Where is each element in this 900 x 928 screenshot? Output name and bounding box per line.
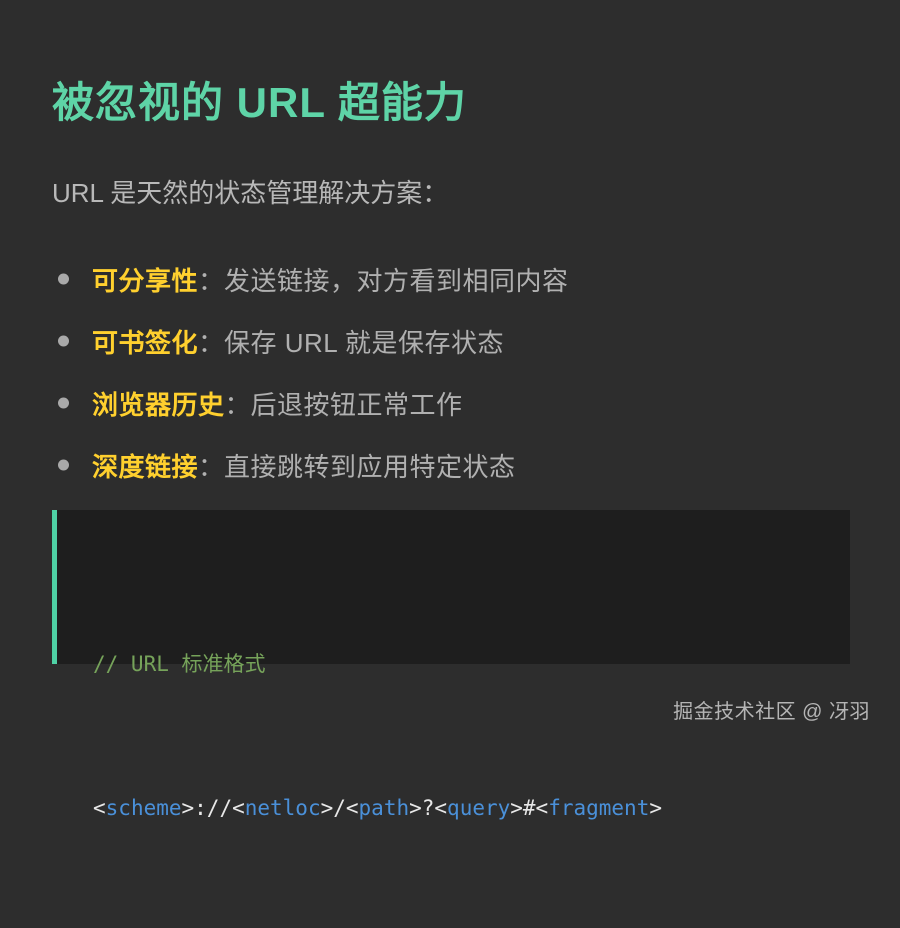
page-subtitle: URL 是天然的状态管理解决方案： bbox=[52, 176, 448, 211]
list-item-term: 可书签化 bbox=[92, 323, 198, 360]
list-item: 可分享性 ： 发送链接，对方看到相同内容 bbox=[52, 248, 852, 310]
code-token-punct-10: > bbox=[649, 796, 662, 820]
code-token-ident-9: fragment bbox=[548, 796, 649, 820]
code-token-ident-1: scheme bbox=[106, 796, 182, 820]
list-item-description: 发送链接，对方看到相同内容 bbox=[224, 261, 569, 298]
dot-icon bbox=[58, 398, 69, 409]
slide-canvas: 被忽视的 URL 超能力 URL 是天然的状态管理解决方案： 可分享性 ： 发送… bbox=[0, 0, 900, 744]
code-token-punct-0: < bbox=[93, 796, 106, 820]
list-item-description: 直接跳转到应用特定状态 bbox=[224, 447, 516, 484]
page-title: 被忽视的 URL 超能力 bbox=[52, 78, 467, 128]
dot-icon bbox=[58, 274, 69, 285]
list-item: 深度链接 ： 直接跳转到应用特定状态 bbox=[52, 434, 852, 496]
code-token-punct-4: >/< bbox=[321, 796, 359, 820]
list-item-separator: ： bbox=[198, 323, 224, 360]
code-syntax-line: <scheme>://<netloc>/<path>?<query>#<frag… bbox=[93, 784, 850, 832]
footer-credit: 掘金技术社区 @ 冴羽 bbox=[673, 695, 870, 724]
code-token-punct-6: >?< bbox=[409, 796, 447, 820]
dot-icon bbox=[58, 336, 69, 347]
code-block: // URL 标准格式 <scheme>://<netloc>/<path>?<… bbox=[52, 510, 850, 664]
code-comment-line: // URL 标准格式 bbox=[93, 640, 850, 688]
code-token-punct-2: >://< bbox=[182, 796, 245, 820]
list-item-description: 保存 URL 就是保存状态 bbox=[224, 323, 504, 360]
list-item-term: 可分享性 bbox=[92, 261, 198, 298]
list-item-description: 后退按钮正常工作 bbox=[251, 385, 463, 422]
list-item: 浏览器历史 ： 后退按钮正常工作 bbox=[52, 372, 852, 434]
dot-icon bbox=[58, 460, 69, 471]
list-item-separator: ： bbox=[198, 447, 224, 484]
code-token-ident-5: path bbox=[359, 796, 410, 820]
feature-bullet-list: 可分享性 ： 发送链接，对方看到相同内容 可书签化 ： 保存 URL 就是保存状… bbox=[52, 248, 852, 496]
code-token-ident-7: query bbox=[447, 796, 510, 820]
code-token-punct-8: >#< bbox=[510, 796, 548, 820]
list-item-term: 深度链接 bbox=[92, 447, 198, 484]
list-item-separator: ： bbox=[225, 385, 251, 422]
list-item-term: 浏览器历史 bbox=[92, 385, 225, 422]
list-item-separator: ： bbox=[198, 261, 224, 298]
list-item: 可书签化 ： 保存 URL 就是保存状态 bbox=[52, 310, 852, 372]
code-token-ident-3: netloc bbox=[245, 796, 321, 820]
